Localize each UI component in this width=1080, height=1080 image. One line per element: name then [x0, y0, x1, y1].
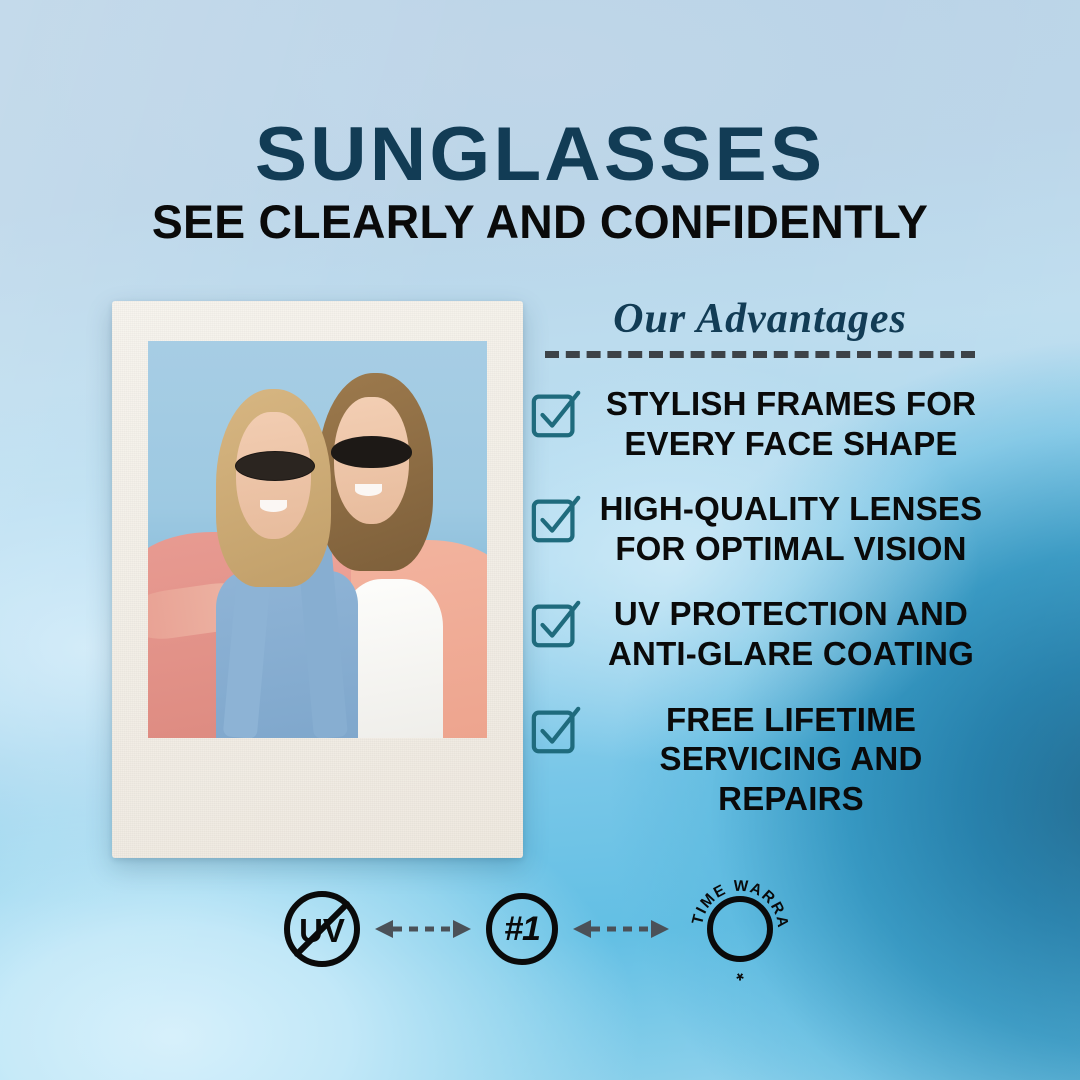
warranty-badge-asterisk: * — [736, 962, 744, 983]
uv-blocked-badge: UV — [281, 888, 363, 970]
lifetime-warranty-badge: LIFETIME WARRANTY * — [681, 870, 799, 988]
badge-row: UV #1 — [0, 870, 1080, 988]
title-block: SUNGLASSES SEE CLEARLY AND CONFIDENTLY — [0, 118, 1080, 247]
advantage-item: UV PROTECTION AND ANTI-GLARE COATING — [530, 594, 990, 673]
number-one-badge-label: #1 — [483, 890, 561, 968]
checkbox-checked-icon — [530, 388, 584, 442]
page-title: SUNGLASSES — [0, 118, 1080, 192]
double-arrow-dashed-icon — [371, 912, 475, 946]
advantage-line: EVERY FACE SHAPE — [624, 425, 957, 462]
uv-prohibited-icon: UV — [281, 888, 363, 970]
checkbox-checked-icon — [530, 493, 584, 547]
advantage-label: UV PROTECTION AND ANTI-GLARE COATING — [598, 594, 990, 673]
advantage-item: STYLISH FRAMES FOR EVERY FACE SHAPE — [530, 384, 990, 463]
advantage-item: FREE LIFETIME SERVICING AND REPAIRS — [530, 700, 990, 819]
checkbox-checked-icon — [530, 704, 584, 758]
advantage-item: HIGH-QUALITY LENSES FOR OPTIMAL VISION — [530, 489, 990, 568]
advantage-label: FREE LIFETIME SERVICING AND REPAIRS — [598, 700, 990, 819]
advantages-divider — [545, 351, 975, 358]
checkbox-checked-icon — [530, 598, 584, 652]
number-one-badge: #1 — [483, 890, 561, 968]
advantages-section: Our Advantages STYLISH FRAMES FOR EVERY … — [530, 295, 990, 818]
polaroid-frame — [112, 301, 523, 858]
advantage-line: SERVICING AND — [660, 740, 923, 777]
photo-person-a-smile — [260, 500, 287, 512]
page-subtitle: SEE CLEARLY AND CONFIDENTLY — [8, 198, 1072, 247]
advantage-line: FOR OPTIMAL VISION — [615, 530, 966, 567]
advantage-line: HIGH-QUALITY LENSES — [600, 490, 983, 527]
arrow-one-to-warranty — [569, 912, 673, 946]
double-arrow-dashed-icon — [569, 912, 673, 946]
advantage-line: FREE LIFETIME — [666, 701, 916, 738]
advantages-heading: Our Advantages — [530, 295, 990, 343]
advantage-label: STYLISH FRAMES FOR EVERY FACE SHAPE — [598, 384, 990, 463]
photo-person-b-sunglasses — [331, 436, 412, 468]
arrow-uv-to-one — [371, 912, 475, 946]
lifetime-warranty-seal-icon: LIFETIME WARRANTY * — [681, 870, 799, 988]
photo-person-a-sunglasses — [236, 452, 314, 480]
advantage-line: UV PROTECTION AND — [614, 595, 968, 632]
product-photo — [148, 341, 487, 738]
advantage-line: REPAIRS — [718, 780, 864, 817]
poster-canvas: SUNGLASSES SEE CLEARLY AND CONFIDENTLY — [0, 0, 1080, 1080]
advantage-line: ANTI-GLARE COATING — [608, 635, 974, 672]
advantage-label: HIGH-QUALITY LENSES FOR OPTIMAL VISION — [598, 489, 990, 568]
advantage-line: STYLISH FRAMES FOR — [606, 385, 976, 422]
photo-person-b-smile — [355, 484, 382, 496]
